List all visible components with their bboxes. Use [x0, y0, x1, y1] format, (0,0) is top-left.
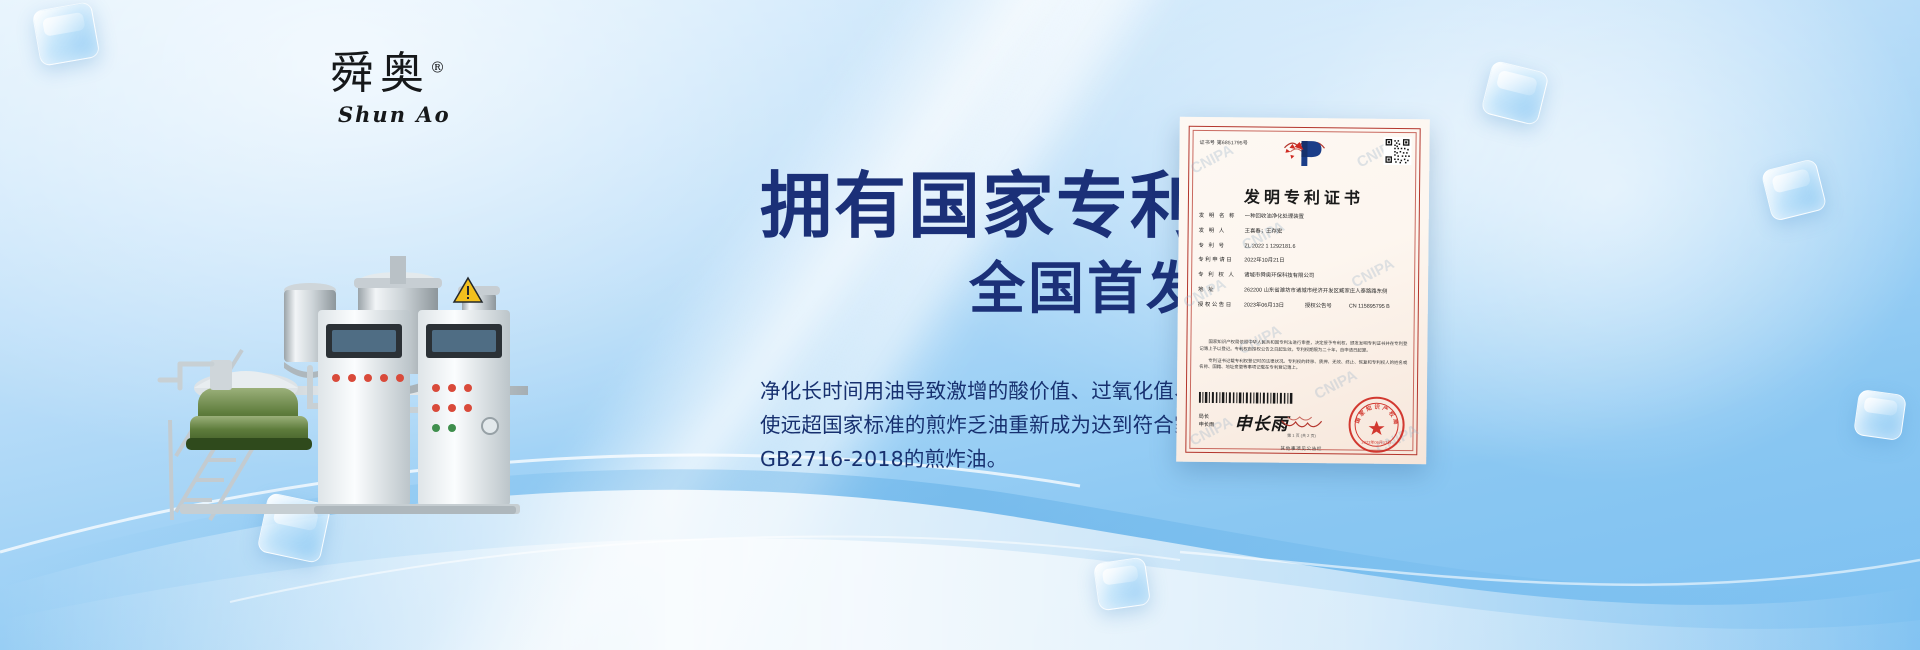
- certificate-grant-row: 授权公告日 2023年06月13日 授权公告号 CN 115895795 B: [1198, 302, 1410, 312]
- announce-no-value: CN 115895795 B: [1349, 303, 1410, 311]
- ice-cube-icon: [32, 1, 101, 67]
- qr-code: [1383, 137, 1411, 165]
- certificate-body-p2: 专利证书记载专利权登记时的法律状况。专利权的转移、质押、无效、终止、恢复和专利权…: [1199, 358, 1407, 374]
- cnipa-emblem-icon: [1281, 138, 1327, 168]
- certificate-title: 发明专利证书: [1179, 183, 1429, 210]
- ornament-bottom: [1280, 415, 1324, 431]
- official-seal: 国家知识产权局 2023年06月13日: [1348, 396, 1405, 453]
- field-key: 专 利 号: [1198, 242, 1244, 250]
- director-labels: 局长 申长雨: [1199, 414, 1215, 430]
- certificate-field-row: 发 明 人王喜春；王存宏: [1199, 228, 1411, 238]
- certificate-body: 国家知识产权局依照中华人民共和国专利法进行审查，决定授予专利权，颁发发明专利证书…: [1199, 339, 1407, 378]
- field-value: 2022年10月21日: [1244, 258, 1410, 267]
- field-key: 地 址: [1198, 287, 1244, 295]
- certificate-field-row: 地 址262200 山东省潍坊市诸城市经济开发区臧家庄人泰路路东侧: [1198, 287, 1410, 297]
- seal-date: 2023年06月13日: [1350, 440, 1402, 447]
- field-key: 发 明 名 称: [1199, 213, 1245, 221]
- certificate-field-row: 专利申请日2022年10月21日: [1198, 257, 1410, 267]
- certificate-field-row: 发 明 名 称一种回收油净化处理装置: [1199, 213, 1411, 223]
- machine-illustration: [150, 120, 670, 530]
- field-value: 262200 山东省潍坊市诸城市经济开发区臧家庄人泰路路东侧: [1244, 287, 1410, 296]
- field-value: 一种回收油净化处理装置: [1245, 213, 1411, 222]
- announce-no-label: 授权公告号: [1305, 303, 1349, 311]
- barcode: [1199, 392, 1295, 404]
- registered-mark: ®: [430, 58, 445, 76]
- certificate-fields: 发 明 名 称一种回收油净化处理装置 发 明 人王喜春；王存宏 专 利 号ZL …: [1198, 213, 1411, 319]
- certificate-field-row: 专 利 权 人诸城市舜奥环保科技有限公司: [1198, 272, 1410, 282]
- field-key: 发 明 人: [1199, 228, 1245, 236]
- certificate-body-p1: 国家知识产权局依照中华人民共和国专利法进行审查，决定授予专利权，颁发发明专利证书…: [1199, 339, 1407, 355]
- grant-date-label: 授权公告日: [1198, 302, 1244, 310]
- field-value: 诸城市舜奥环保科技有限公司: [1244, 273, 1410, 282]
- director-label: 局长: [1199, 414, 1215, 422]
- field-value: 王喜春；王存宏: [1245, 228, 1411, 237]
- grant-date-value: 2023年06月13日: [1244, 302, 1305, 310]
- brand-name-cn: 舜奥®: [330, 52, 480, 96]
- field-key: 专 利 权 人: [1198, 272, 1244, 280]
- director-name-label: 申长雨: [1199, 422, 1215, 430]
- hero-banner: 舜奥® Shun Ao: [0, 0, 1920, 650]
- certificate-number: 证书号 第6851795号: [1200, 139, 1249, 147]
- ice-cube-icon: [1853, 389, 1907, 441]
- certificate-field-row: 专 利 号ZL 2022 1 1292181.6: [1198, 242, 1410, 252]
- field-key: 专利申请日: [1198, 257, 1244, 265]
- field-value: ZL 2022 1 1292181.6: [1244, 243, 1410, 252]
- patent-certificate: CNIPA CNIPA CNIPA CNIPA CNIPA CNIPA CNIP…: [1176, 117, 1430, 465]
- ice-cube-icon: [1093, 557, 1151, 612]
